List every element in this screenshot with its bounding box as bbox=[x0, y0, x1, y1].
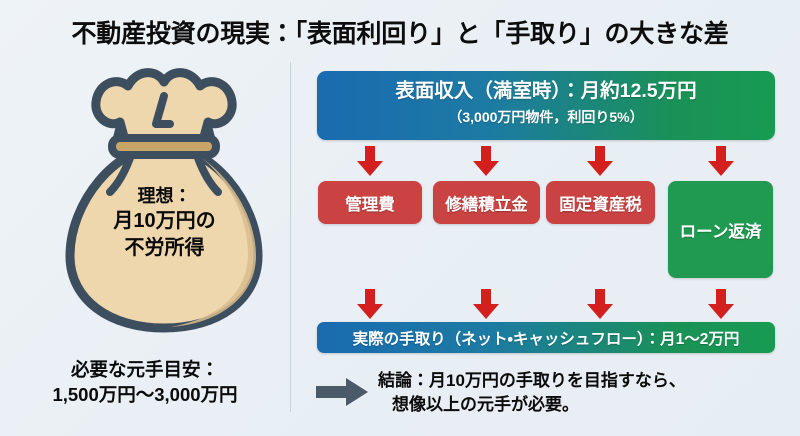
arrow-right-icon bbox=[316, 378, 368, 406]
cost-box-4-loan: ローン返済 bbox=[668, 181, 773, 278]
vertical-divider bbox=[290, 62, 291, 412]
gross-income-main: 表面収入（満室時）：月約12.5万円 bbox=[317, 79, 775, 103]
flow-arrow-down-8 bbox=[708, 289, 734, 319]
conclusion-line-2: 想像以上の元手が必要。 bbox=[378, 393, 778, 417]
flow-arrow-down-7 bbox=[587, 289, 613, 319]
conclusion-arrow bbox=[316, 378, 368, 406]
conclusion-line-1: 結論：月10万円の手取りを目指すなら、 bbox=[378, 369, 778, 393]
flow-arrow-down-3 bbox=[587, 146, 613, 176]
net-cashflow-box: 実際の手取り（ネット・キャッシュフロー）：月1〜2万円 bbox=[317, 322, 775, 353]
required-capital-line-2: 1,500万円〜3,000万円 bbox=[10, 383, 280, 408]
money-bag-graphic: 理想： 月10万円の 不労所得 bbox=[52, 62, 277, 337]
flow-arrow-down-2 bbox=[473, 146, 499, 176]
gross-income-sub: （3,000万円物件，利回り5%） bbox=[317, 107, 775, 127]
required-capital-note: 必要な元手目安： 1,500万円〜3,000万円 bbox=[10, 358, 280, 408]
flow-arrow-down-5 bbox=[357, 289, 383, 319]
net-cashflow-label: 実際の手取り（ネット・キャッシュフロー）：月1〜2万円 bbox=[353, 327, 740, 349]
cost-box-2-label: 修繕積立金 bbox=[445, 191, 528, 215]
cost-box-1-label: 管理費 bbox=[345, 191, 395, 215]
cost-box-3-label: 固定資産税 bbox=[559, 191, 642, 215]
flow-arrow-down-6 bbox=[473, 289, 499, 319]
cost-box-1: 管理費 bbox=[318, 181, 422, 224]
flow-arrow-down-1 bbox=[357, 146, 383, 176]
page-title: 不動産投資の現実：「表面利回り」と「手取り」の大きな差 bbox=[0, 14, 800, 50]
gross-income-box: 表面収入（満室時）：月約12.5万円 （3,000万円物件，利回り5%） bbox=[317, 71, 775, 140]
money-bag-icon bbox=[52, 62, 277, 337]
infographic-canvas: 不動産投資の現実：「表面利回り」と「手取り」の大きな差 理想： 月10万円の 不… bbox=[0, 0, 800, 436]
cost-box-3: 固定資産税 bbox=[546, 181, 655, 224]
conclusion-text: 結論：月10万円の手取りを目指すなら、 想像以上の元手が必要。 bbox=[378, 369, 778, 417]
cost-box-2: 修繕積立金 bbox=[433, 181, 540, 224]
cost-box-4-label: ローン返済 bbox=[680, 218, 762, 242]
required-capital-line-1: 必要な元手目安： bbox=[10, 358, 280, 383]
flow-arrow-down-4 bbox=[708, 146, 734, 176]
